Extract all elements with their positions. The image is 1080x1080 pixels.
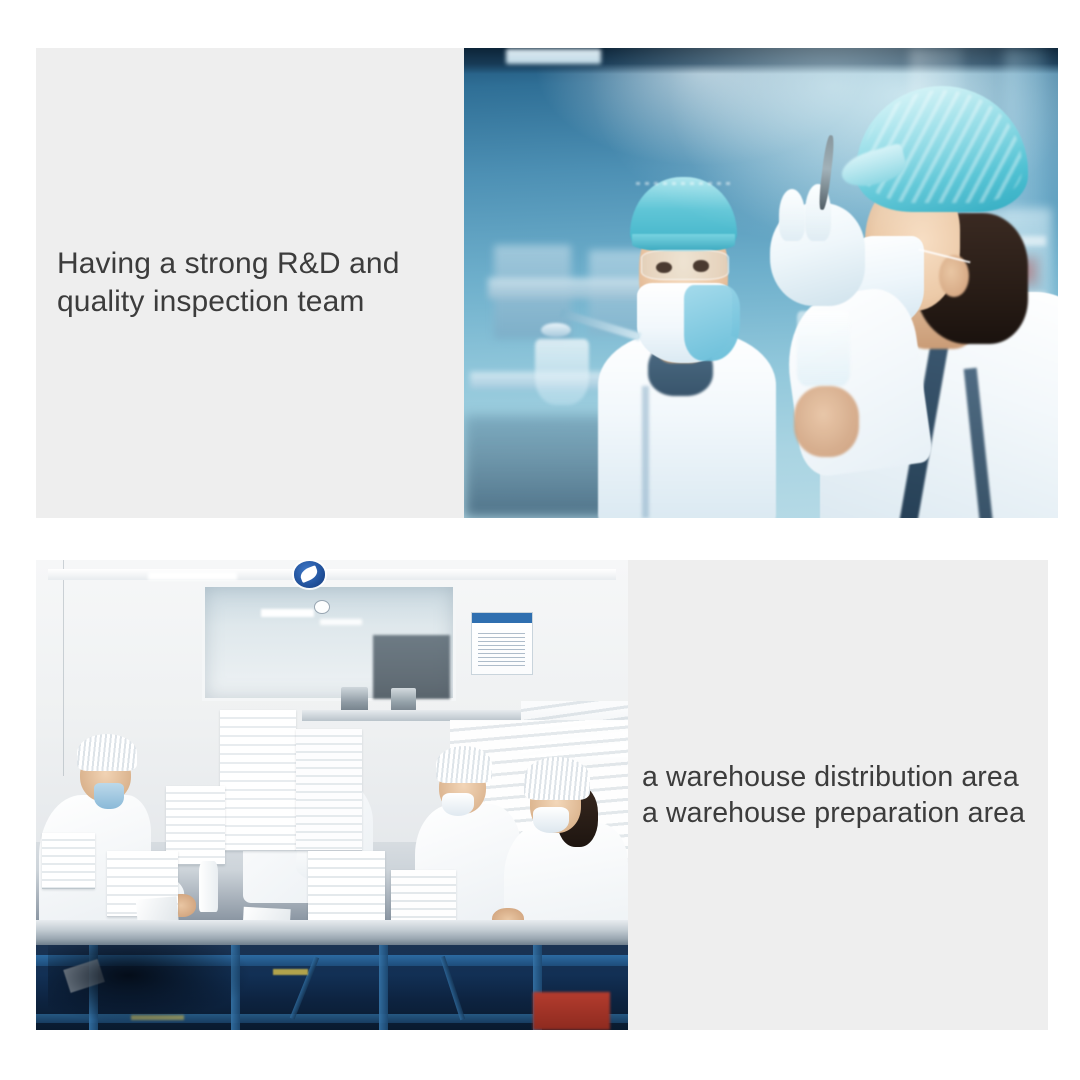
worker-a-safety-glasses (641, 250, 729, 280)
worker-4-face-mask (533, 807, 569, 833)
wall-corner-edge (63, 560, 64, 776)
yellow-floor-marking-1 (273, 969, 309, 975)
ceiling-strip (48, 569, 616, 579)
window-light-1 (261, 609, 314, 617)
lower-hand (794, 386, 859, 457)
section-warehouse: a warehouse distribution area a warehous… (36, 560, 1048, 1030)
caption-pane-right: a warehouse distribution area a warehous… (628, 560, 1048, 1030)
lab-quality-inspection-photo (464, 48, 1058, 518)
worker-a-eye-left (656, 262, 671, 273)
worker-a-eye-right (693, 260, 708, 271)
worker-a-hairnet-texture (636, 182, 731, 185)
worker-1-hairnet (77, 734, 136, 772)
worker-3-hairnet (436, 746, 492, 784)
caption-warehouse: a warehouse distribution area a warehous… (642, 759, 1025, 831)
lab-beaker (797, 311, 850, 386)
caption-rnd-quality: Having a strong R&D and quality inspecti… (57, 245, 399, 321)
wall-poster-text-lines (478, 633, 525, 668)
section-rnd-quality: Having a strong R&D and quality inspecti… (36, 48, 1058, 518)
under-table-shadow (48, 945, 249, 1020)
ceiling-lamp-icon (506, 49, 601, 64)
warehouse-packing-photo (36, 560, 628, 1030)
steel-table-top (36, 920, 628, 946)
carton-stack-tall-2 (296, 729, 361, 851)
worker-4-hairnet (524, 757, 589, 799)
window-light-2 (320, 619, 361, 625)
steel-pot-2 (391, 688, 416, 712)
page-root: Having a strong R&D and quality inspecti… (0, 0, 1080, 1080)
worker-3-face-mask (442, 793, 475, 817)
pipette-icon (818, 135, 836, 211)
lab-flask-left (535, 339, 588, 405)
lab-spoon (541, 323, 571, 337)
worker-a-face-mask-blue (684, 285, 740, 360)
ceiling-light-1 (148, 572, 237, 580)
worker-a-hairnet-band (632, 234, 735, 251)
steel-pot-1 (341, 687, 368, 713)
warehouse-scene (36, 560, 628, 1030)
carton-stack-edge (42, 833, 95, 889)
worker-1-face-mask (94, 783, 124, 809)
carton-stack-tall-1 (220, 710, 297, 851)
white-bottle (199, 861, 218, 913)
table-leg-3 (379, 945, 387, 1030)
lab-scene (464, 48, 1058, 518)
glove-finger-1 (779, 189, 805, 241)
carton-stack-low-2 (308, 851, 385, 926)
worker-a-coat-fold (642, 386, 649, 518)
caption-pane-left: Having a strong R&D and quality inspecti… (36, 48, 464, 518)
red-floor-item (533, 992, 610, 1030)
